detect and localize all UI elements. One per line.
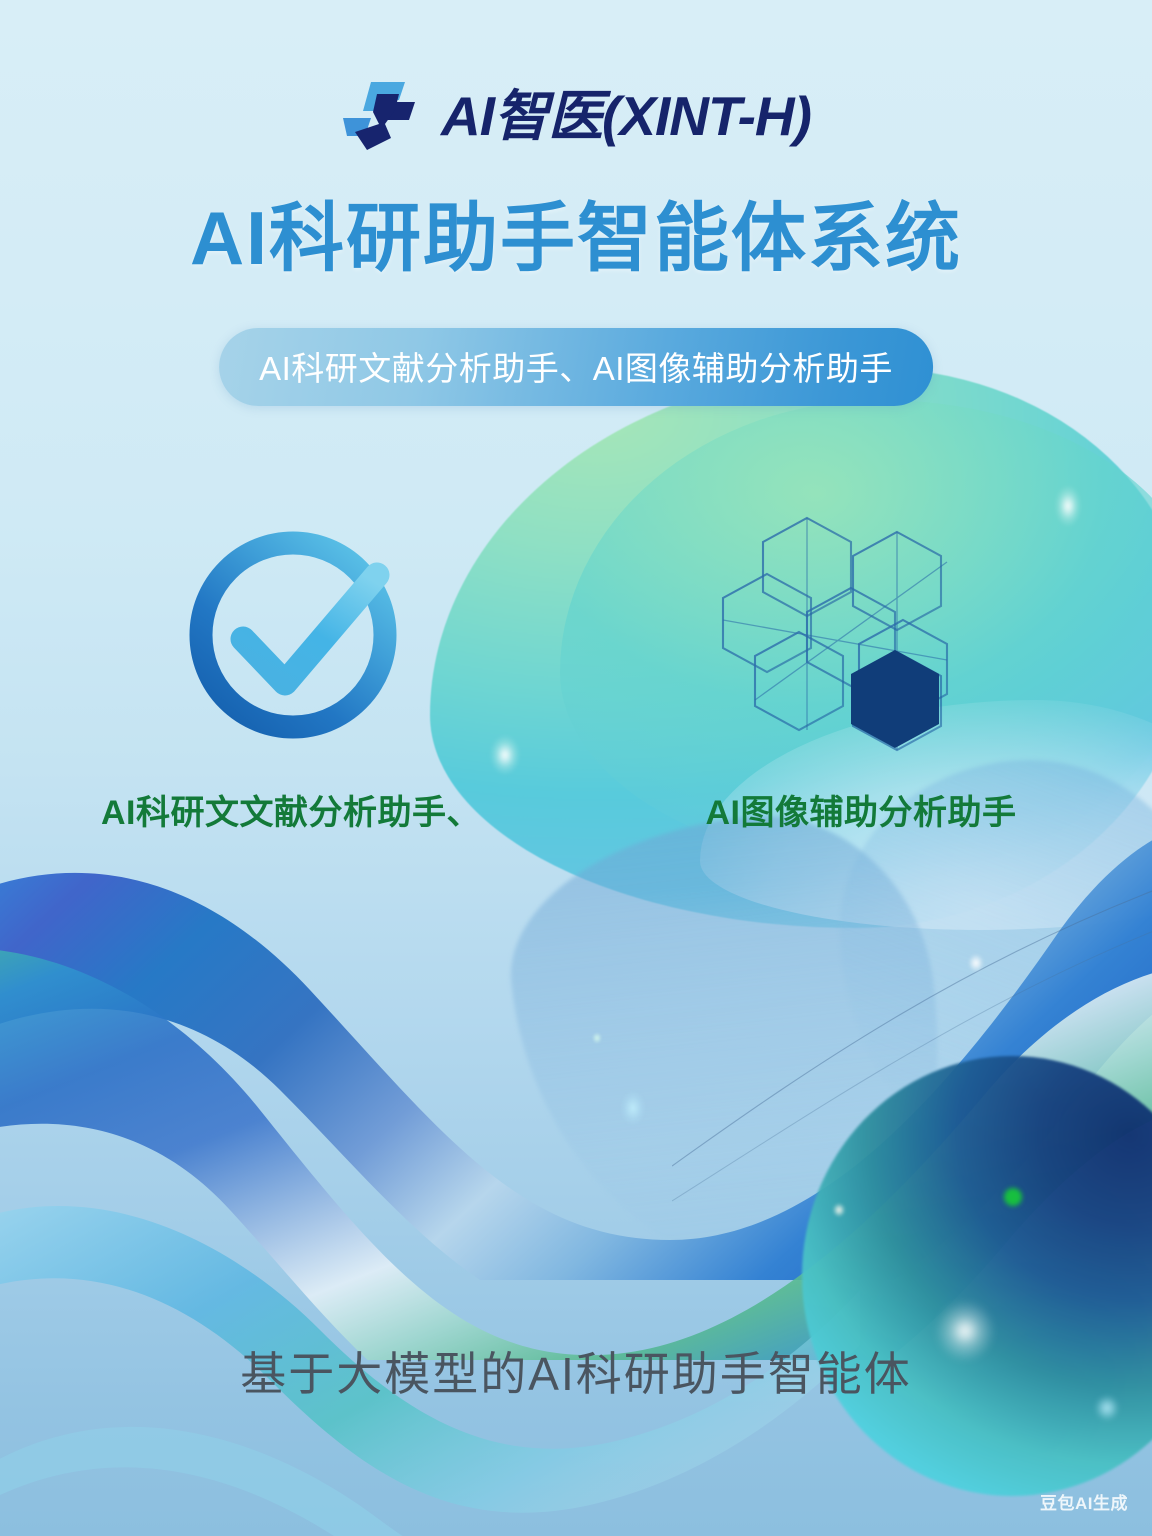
- feature-label-image: AI图像辅助分析助手: [631, 785, 1091, 834]
- thin-arc-lines: [672, 816, 1152, 1236]
- bokeh-dot: [620, 1090, 646, 1126]
- feature-label-literature: AI科研文文献分析助手、: [61, 785, 521, 834]
- ribbon-wave-primary: [0, 840, 1152, 1280]
- sphere-glow: [852, 1136, 1152, 1456]
- bokeh-dot: [965, 950, 987, 976]
- check-circle-icon: [181, 495, 421, 765]
- hexagon-cluster-icon: [711, 495, 991, 765]
- abstract-s-blocks-logo-icon: [341, 80, 419, 152]
- brand-row: AI智医(XINT-H): [0, 80, 1152, 152]
- bokeh-dot: [830, 1200, 848, 1220]
- blue-veil-left: [497, 799, 964, 1310]
- feature-label-row: AI科研文文献分析助手、 AI图像辅助分析助手: [0, 785, 1152, 834]
- bokeh-dot: [590, 1030, 604, 1046]
- watermark-label: 豆包AI生成: [1040, 1489, 1128, 1514]
- brand-name: AI智医(XINT-H): [441, 89, 811, 144]
- ribbon-wave-secondary: [0, 930, 1152, 1360]
- feature-item-image[interactable]: [711, 495, 991, 765]
- gradient-sphere: [802, 1056, 1152, 1496]
- feature-item-literature[interactable]: [161, 495, 441, 765]
- feature-icon-row: [0, 495, 1152, 765]
- subtitle-pill: AI科研文献分析助手、AI图像辅助分析助手: [219, 328, 933, 406]
- poster-canvas: AI智医(XINT-H) AI科研助手智能体系统 AI科研文献分析助手、AI图像…: [0, 0, 1152, 1536]
- green-accent-dot: [1004, 1188, 1022, 1206]
- footer-tagline: 基于大模型的AI科研助手智能体: [0, 1338, 1152, 1404]
- page-title: AI科研助手智能体系统: [0, 196, 1152, 280]
